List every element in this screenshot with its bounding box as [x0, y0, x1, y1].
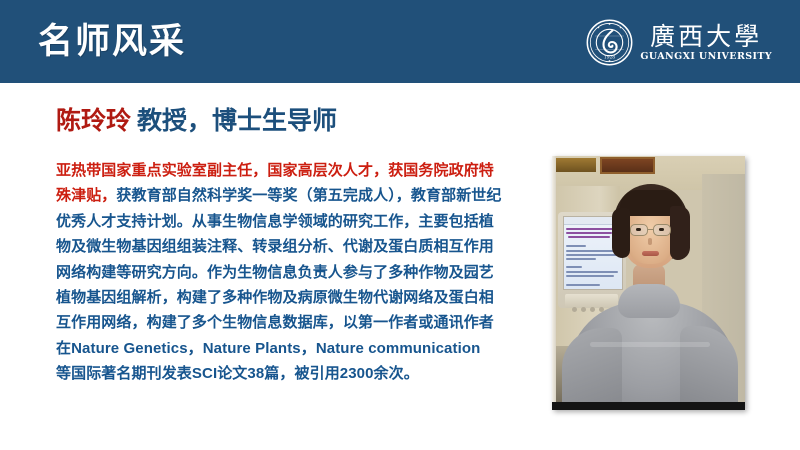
photo-left-edge: [552, 156, 556, 410]
university-name-en: GUANGXI UNIVERSITY: [640, 51, 772, 63]
slide-canvas: 名师风采: [0, 0, 800, 450]
bio-highlight-text: 亚热带国家重点实验室副主任，国家高层次人才，获国务院政府特: [56, 162, 494, 179]
photo-person-eye-right: [659, 228, 664, 231]
portrait-photo: [552, 156, 745, 410]
university-wordmark: 廣西大學 GUANGXI UNIVERSITY: [640, 22, 772, 63]
photo-screen-text-line: [566, 232, 612, 234]
portrait-photo-frame: [552, 156, 745, 410]
page-title: 名师风采: [38, 20, 186, 64]
bio-highlight-text: 殊津贴，: [56, 187, 116, 204]
bio-line: 网络构建等研究方向。作为生物信息负责人参与了多种作物及园艺: [56, 260, 526, 285]
photo-person-hair-left: [612, 208, 630, 258]
photo-monitor-controls: [572, 299, 610, 304]
photo-person-mouth: [642, 251, 659, 256]
photo-screen-text-line: [566, 271, 618, 273]
bio-body-text: 获教育部自然科学奖一等奖（第五完成人），教育部新世纪: [116, 187, 501, 204]
profile-biography: 亚热带国家重点实验室副主任，国家高层次人才，获国务院政府特殊津贴，获教育部自然科…: [56, 158, 526, 387]
bio-body-text: 植物基因组解析，构建了多种作物及病原微生物代谢网络及蛋白相: [56, 289, 494, 306]
university-logo: 1928 廣西大學 GUANGXI UNIVERSITY: [586, 15, 772, 70]
photo-bottom-edge: [552, 402, 745, 410]
bio-line: 互作用网络，构建了多个生物信息数据库，以第一作者或通讯作者: [56, 310, 526, 335]
photo-sweater-seam: [590, 342, 710, 347]
photo-wall-frame-left: [556, 158, 596, 172]
bio-line: 物及微生物基因组组装注释、转录组分析、代谢及蛋白质相互作用: [56, 234, 526, 259]
bio-body-text: 优秀人才支持计划。从事生物信息学领域的研究工作，主要包括植: [56, 213, 494, 230]
photo-person-hair-right: [670, 206, 690, 260]
bio-line: 亚热带国家重点实验室副主任，国家高层次人才，获国务院政府特: [56, 158, 526, 183]
photo-screen-text-line: [566, 254, 617, 256]
photo-screen-text-line: [566, 258, 596, 260]
bio-line: 殊津贴，获教育部自然科学奖一等奖（第五完成人），教育部新世纪: [56, 183, 526, 208]
photo-screen-text-line: [566, 275, 614, 277]
bio-body-text: 等国际著名期刊发表SCI论文38篇，被引用2300余次。: [56, 365, 419, 382]
bio-line: 优秀人才支持计划。从事生物信息学领域的研究工作，主要包括植: [56, 209, 526, 234]
person-title: 教授，博士生导师: [137, 107, 337, 135]
photo-eyeglasses-bridge: [648, 229, 653, 230]
profile-heading: 陈玲玲教授，博士生导师: [56, 104, 337, 138]
bio-body-text: 互作用网络，构建了多个生物信息数据库，以第一作者或通讯作者: [56, 314, 494, 331]
photo-turtleneck-collar: [618, 284, 680, 318]
photo-screen-text-line: [566, 245, 586, 247]
photo-screen-text-line: [566, 228, 616, 230]
university-seal-icon: 1928: [586, 19, 633, 66]
photo-screen-text-line: [566, 284, 600, 286]
photo-person-nose: [648, 238, 652, 245]
svg-text:1928: 1928: [604, 56, 615, 61]
bio-line: 在Nature Genetics，Nature Plants，Nature co…: [56, 336, 526, 361]
photo-wall-frame-right: [600, 157, 655, 174]
bio-line: 等国际著名期刊发表SCI论文38篇，被引用2300余次。: [56, 361, 526, 386]
photo-screen-text-line: [566, 266, 582, 268]
photo-person-eye-left: [636, 228, 641, 231]
photo-screen-text-line: [566, 250, 619, 252]
person-name: 陈玲玲: [56, 107, 131, 135]
photo-screen-text-line: [568, 236, 610, 238]
header-band: 名师风采: [0, 0, 800, 83]
bio-body-text: 物及微生物基因组组装注释、转录组分析、代谢及蛋白质相互作用: [56, 238, 494, 255]
bio-line: 植物基因组解析，构建了多种作物及病原微生物代谢网络及蛋白相: [56, 285, 526, 310]
university-name-cn: 廣西大學: [650, 24, 762, 50]
bio-body-text: 在Nature Genetics，Nature Plants，Nature co…: [56, 340, 480, 357]
bio-body-text: 网络构建等研究方向。作为生物信息负责人参与了多种作物及园艺: [56, 264, 494, 281]
